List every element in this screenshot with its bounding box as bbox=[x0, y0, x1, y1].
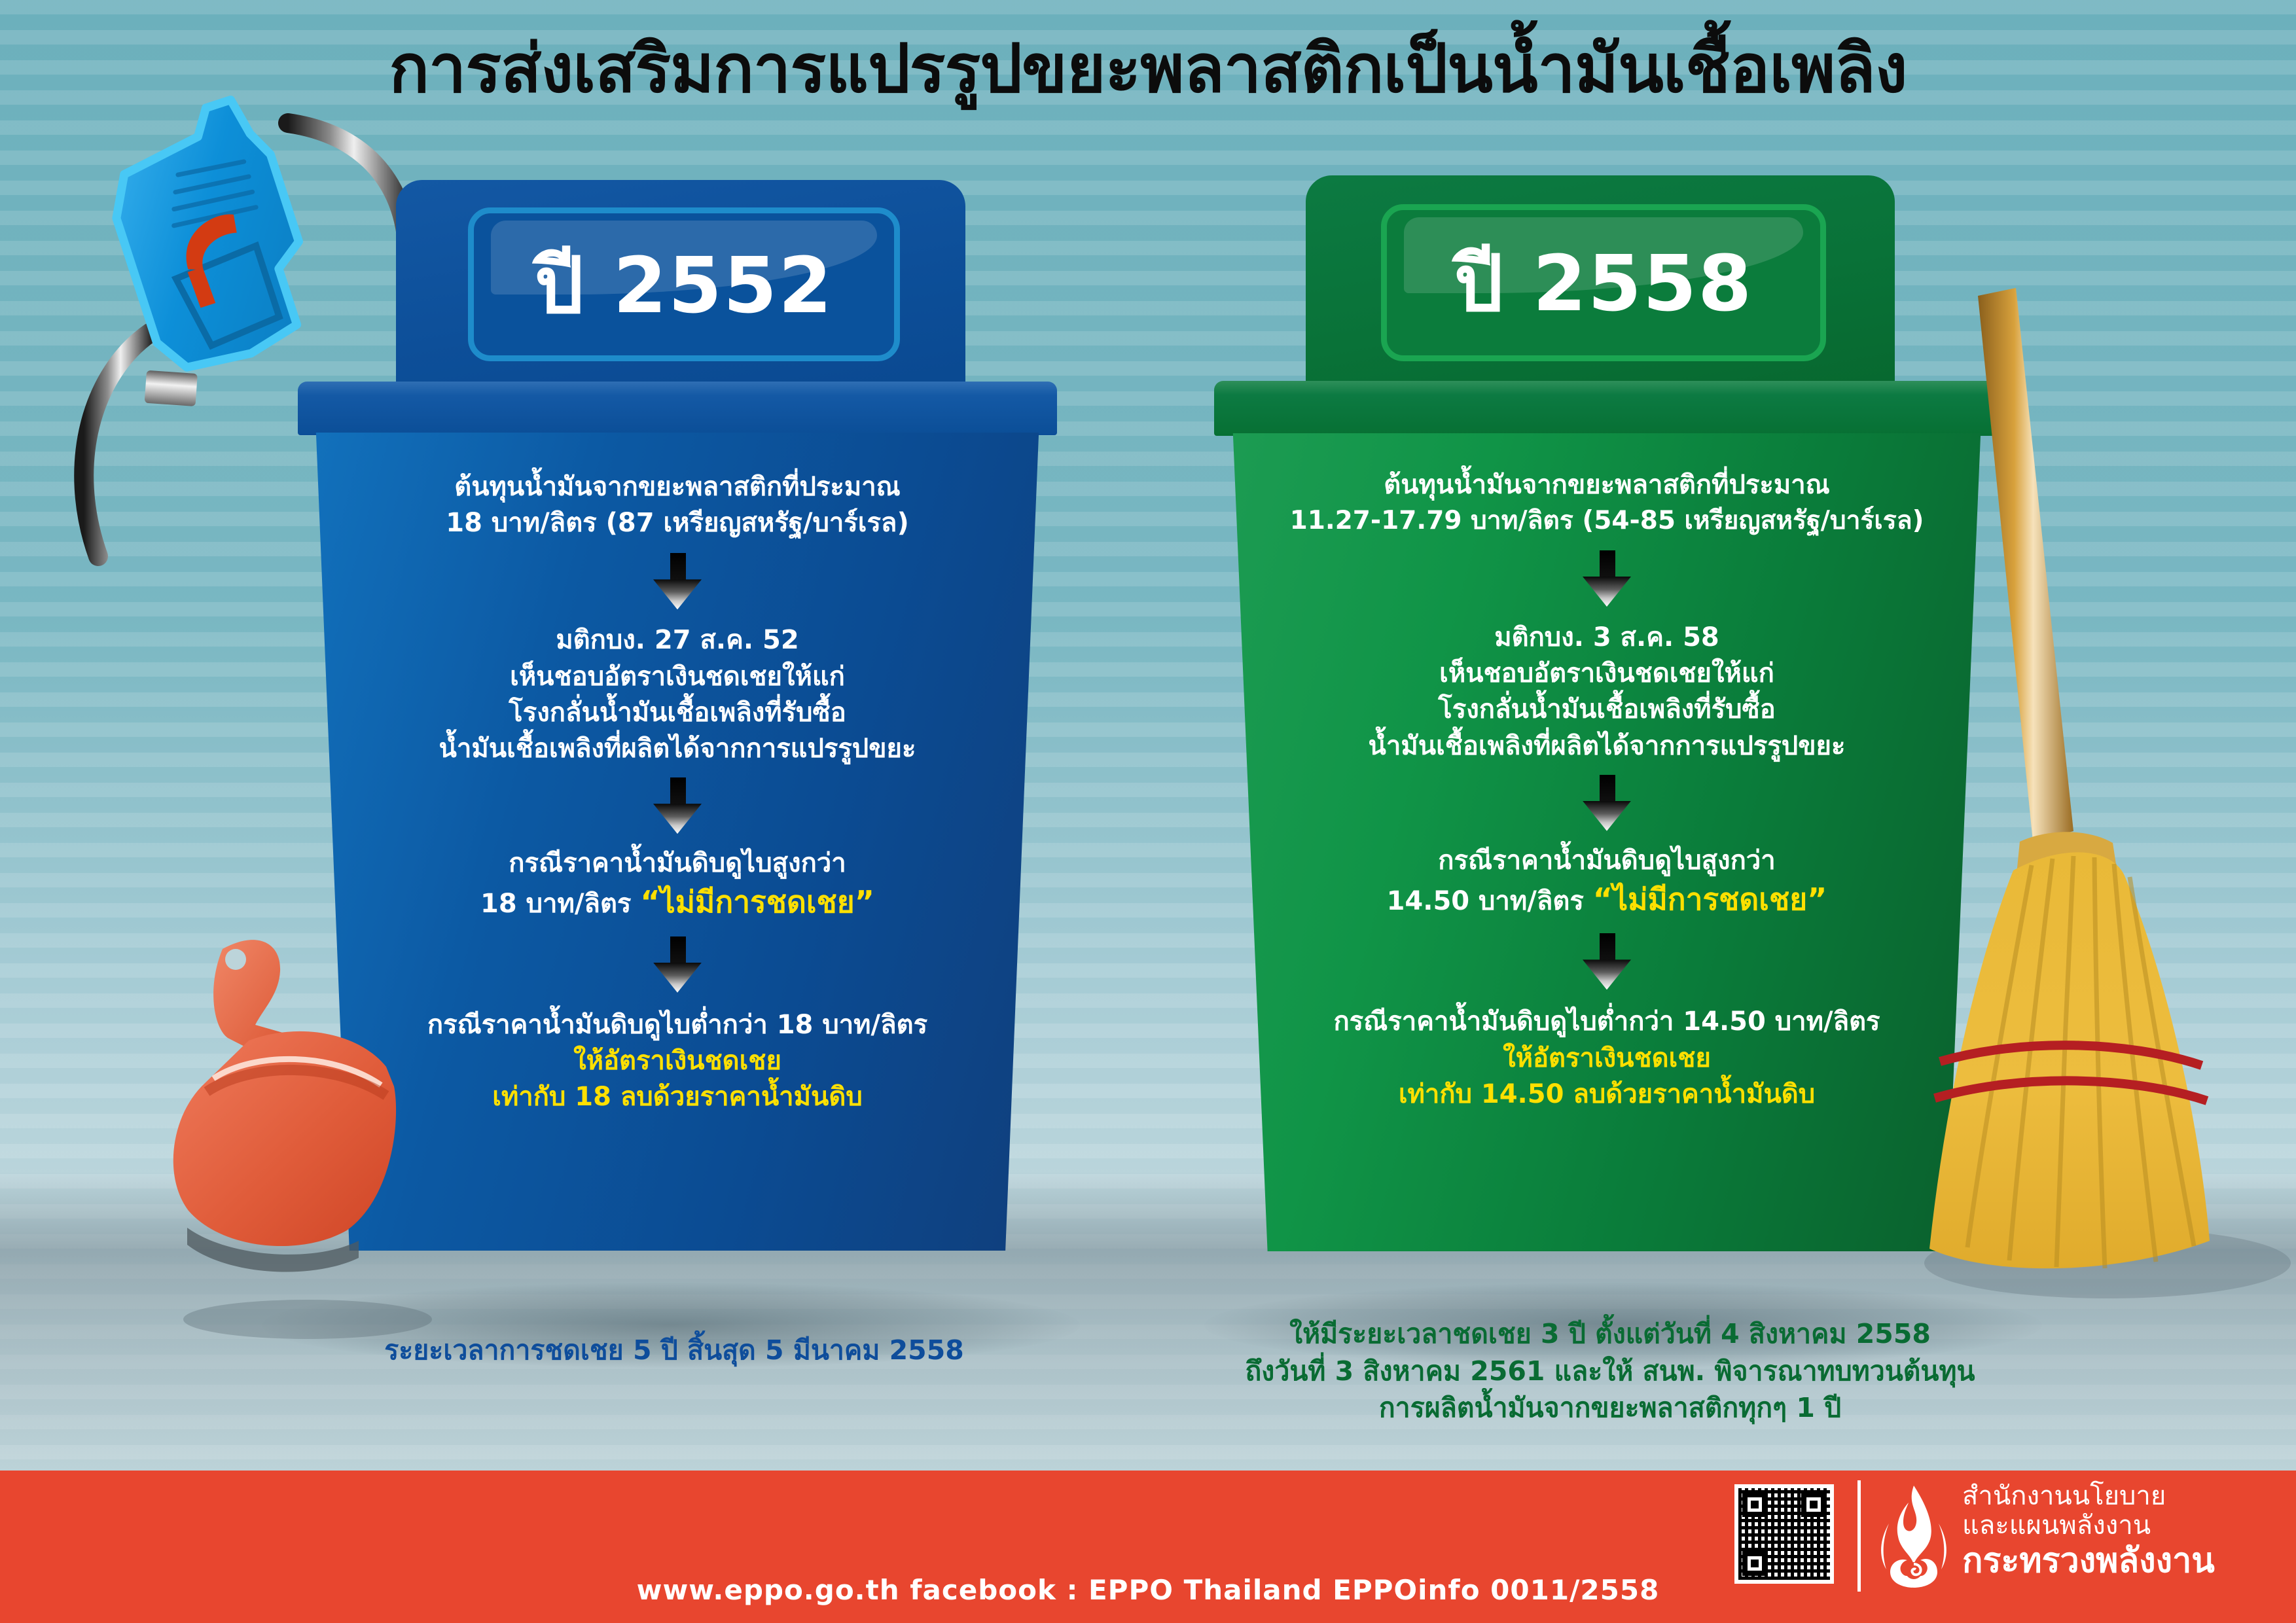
bin-lid-label-2552: ปี 2552 bbox=[474, 213, 894, 355]
step-1-2558: ต้นทุนน้ำมันจากขยะพลาสติกที่ประมาณ 11.27… bbox=[1214, 467, 2000, 539]
flow-arrow-1 bbox=[298, 553, 1057, 609]
step-2-line-3: โรงกลั่นน้ำมันเชื้อเพลิงที่รับซื้อ bbox=[1214, 692, 2000, 728]
bin-2558: ปี 2558 ต้นทุนน้ำมันจากขยะพลาสติกที่ประม… bbox=[1214, 175, 2000, 1311]
step-2-line-1: มติกบง. 27 ส.ค. 52 bbox=[298, 622, 1057, 658]
caption-2558: ให้มีระยะเวลาชดเชย 3 ปี ตั้งแต่วันที่ 4 … bbox=[1086, 1315, 2134, 1427]
bin-lid-2552: ปี 2552 bbox=[396, 180, 965, 389]
bin-rim-2558 bbox=[1214, 381, 2000, 436]
qr-eye-bl bbox=[1742, 1551, 1767, 1576]
agency-line-3: กระทรวงพลังงาน bbox=[1962, 1542, 2215, 1580]
step-1-line-1: ต้นทุนน้ำมันจากขยะพลาสติกที่ประมาณ bbox=[298, 469, 1057, 505]
step-2-line-2: เห็นชอบอัตราเงินชดเชยให้แก่ bbox=[298, 659, 1057, 695]
bin-rim-2552 bbox=[298, 382, 1057, 435]
page-title: การส่งเสริมการแปรรูปขยะพลาสติกเป็นน้ำมัน… bbox=[0, 34, 2296, 104]
flow-arrow-2 bbox=[298, 777, 1057, 834]
agency-line-2: และแผนพลังงาน bbox=[1962, 1511, 2215, 1541]
step-3-2558: กรณีราคาน้ำมันดิบดูไบสูงกว่า 14.50 บาท/ล… bbox=[1214, 843, 2000, 921]
step-3-emphasis: “ไม่มีการชดเชย” bbox=[1593, 882, 1827, 917]
lid-plate-2558: ปี 2558 bbox=[1381, 204, 1826, 361]
dustpan-icon bbox=[151, 903, 484, 1361]
step-1-line-2: 11.27-17.79 บาท/ลิตร (54-85 เหรียญสหรัฐ/… bbox=[1214, 503, 2000, 539]
flame-logo-icon bbox=[1877, 1484, 1950, 1588]
flow-arrow-3 bbox=[1214, 933, 2000, 990]
flow-arrow-1 bbox=[1214, 550, 2000, 607]
broom-icon bbox=[1892, 268, 2296, 1322]
step-3-emphasis: “ไม่มีการชดเชย” bbox=[640, 884, 874, 919]
step-2-line-3: โรงกลั่นน้ำมันเชื้อเพลิงที่รับซื้อ bbox=[298, 695, 1057, 731]
step-2-2552: มติกบง. 27 ส.ค. 52 เห็นชอบอัตราเงินชดเชย… bbox=[298, 622, 1057, 767]
step-4-line-3: เท่ากับ 14.50 ลบด้วยราคาน้ำมันดิบ bbox=[1214, 1077, 2000, 1113]
step-2-line-2: เห็นชอบอัตราเงินชดเชยให้แก่ bbox=[1214, 656, 2000, 692]
step-3-prefix: 18 บาท/ลิตร bbox=[480, 889, 640, 919]
step-3-line-1: กรณีราคาน้ำมันดิบดูไบสูงกว่า bbox=[1214, 843, 2000, 879]
bin-lid-2558: ปี 2558 bbox=[1306, 175, 1895, 390]
step-4-line-1: กรณีราคาน้ำมันดิบดูไบต่ำกว่า 14.50 บาท/ล… bbox=[1214, 1004, 2000, 1040]
step-4-line-2: ให้อัตราเงินชดเชย bbox=[1214, 1041, 2000, 1077]
step-2-line-1: มติกบง. 3 ส.ค. 58 bbox=[1214, 620, 2000, 656]
infographic-poster: การส่งเสริมการแปรรูปขยะพลาสติกเป็นน้ำมัน… bbox=[0, 0, 2296, 1623]
step-3-line-1: กรณีราคาน้ำมันดิบดูไบสูงกว่า bbox=[298, 846, 1057, 882]
step-4-2558: กรณีราคาน้ำมันดิบดูไบต่ำกว่า 14.50 บาท/ล… bbox=[1214, 1004, 2000, 1113]
step-3-prefix: 14.50 บาท/ลิตร bbox=[1387, 886, 1593, 916]
caption-2558-line-3: การผลิตน้ำมันจากขยะพลาสติกทุกๆ 1 ปี bbox=[1086, 1389, 2134, 1427]
bin-lid-label-2558: ปี 2558 bbox=[1387, 210, 1820, 355]
flow-2558: ต้นทุนน้ำมันจากขยะพลาสติกที่ประมาณ 11.27… bbox=[1214, 467, 2000, 1113]
footer-bar: www.eppo.go.th facebook : EPPO Thailand … bbox=[0, 1471, 2296, 1623]
step-1-line-1: ต้นทุนน้ำมันจากขยะพลาสติกที่ประมาณ bbox=[1214, 467, 2000, 503]
qr-code[interactable] bbox=[1734, 1484, 1834, 1584]
step-2-line-4: น้ำมันเชื้อเพลิงที่ผลิตได้จากการแปรรูปขย… bbox=[298, 731, 1057, 767]
flow-arrow-2 bbox=[1214, 775, 2000, 831]
footer-url: www.eppo.go.th facebook : EPPO Thailand … bbox=[0, 1574, 2296, 1606]
step-1-2552: ต้นทุนน้ำมันจากขยะพลาสติกที่ประมาณ 18 บา… bbox=[298, 469, 1057, 541]
bin-body-2558: ต้นทุนน้ำมันจากขยะพลาสติกที่ประมาณ 11.27… bbox=[1214, 433, 2000, 1251]
caption-2558-line-2: ถึงวันที่ 3 สิงหาคม 2561 และให้ สนพ. พิจ… bbox=[1086, 1353, 2134, 1390]
footer-divider bbox=[1857, 1480, 1861, 1592]
step-2-2558: มติกบง. 3 ส.ค. 58 เห็นชอบอัตราเงินชดเชยใ… bbox=[1214, 620, 2000, 764]
step-2-line-4: น้ำมันเชื้อเพลิงที่ผลิตได้จากการแปรรูปขย… bbox=[1214, 728, 2000, 764]
step-3-line-2: 14.50 บาท/ลิตร “ไม่มีการชดเชย” bbox=[1214, 879, 2000, 920]
step-1-line-2: 18 บาท/ลิตร (87 เหรียญสหรัฐ/บาร์เรล) bbox=[298, 505, 1057, 541]
qr-eye-tl bbox=[1742, 1492, 1767, 1517]
agency-logotype: สำนักงานนโยบาย และแผนพลังงาน กระทรวงพลัง… bbox=[1962, 1482, 2215, 1580]
qr-eye-tr bbox=[1801, 1492, 1826, 1517]
lid-plate-2552: ปี 2552 bbox=[468, 207, 900, 361]
agency-line-1: สำนักงานนโยบาย bbox=[1962, 1482, 2215, 1511]
